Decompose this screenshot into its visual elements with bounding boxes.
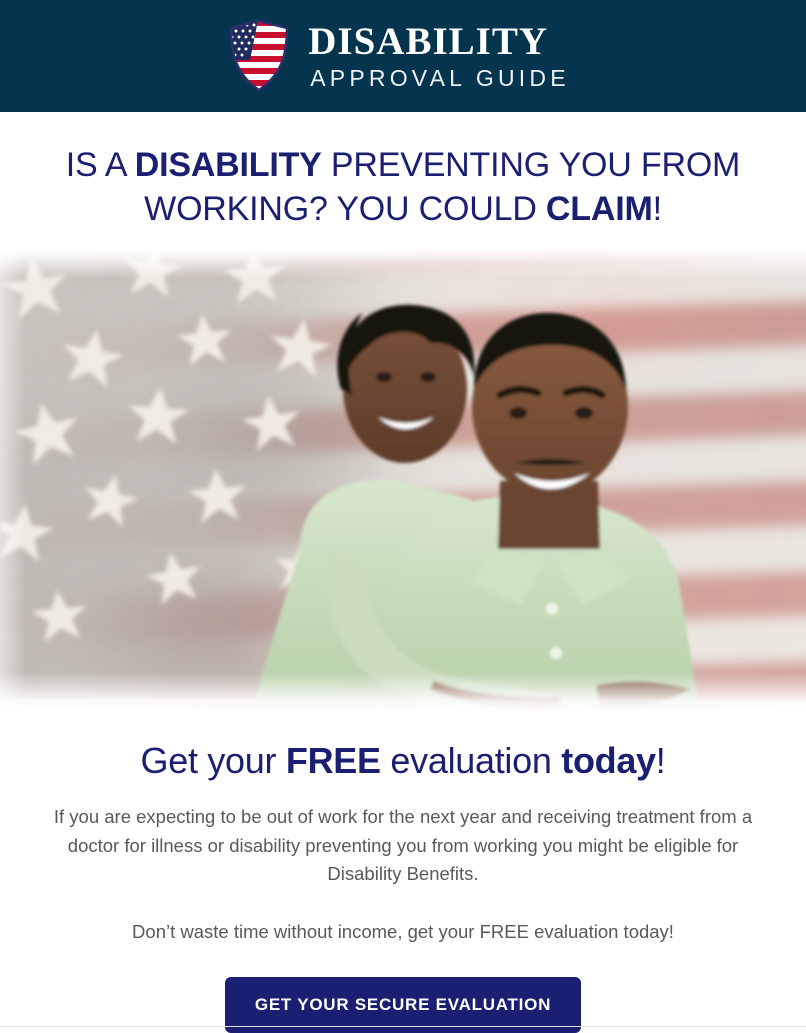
cta-container: GET YOUR SECURE EVALUATION <box>28 977 778 1033</box>
hero-fade-left <box>0 249 26 714</box>
brand-text: DISABILITY APPROVAL GUIDE <box>308 22 569 91</box>
bottom-divider <box>0 1026 806 1027</box>
sub-headline: Get your FREE evaluation today! <box>28 740 778 781</box>
brand-subtitle: APPROVAL GUIDE <box>308 67 569 90</box>
site-header: DISABILITY APPROVAL GUIDE <box>0 0 806 112</box>
hero-fade-top <box>0 249 806 279</box>
headline-emphasis-claim: CLAIM <box>546 190 653 228</box>
page-headline: IS A DISABILITY PREVENTING YOU FROM WORK… <box>0 112 806 231</box>
subheadline-part-1: Get your <box>141 740 286 781</box>
lead-paragraph: If you are expecting to be out of work f… <box>45 803 761 887</box>
hero-image <box>0 249 806 714</box>
subheadline-part-3: ! <box>656 740 666 781</box>
get-secure-evaluation-button[interactable]: GET YOUR SECURE EVALUATION <box>225 977 581 1033</box>
us-flag-shield-icon <box>228 20 290 92</box>
subheadline-emphasis-today: today <box>561 740 656 781</box>
headline-part-1: IS A <box>66 146 135 184</box>
main-content: Get your FREE evaluation today! If you a… <box>0 740 806 1032</box>
brand-lockup[interactable]: DISABILITY APPROVAL GUIDE <box>228 20 569 92</box>
headline-emphasis-disability: DISABILITY <box>135 146 322 184</box>
brand-title: DISABILITY <box>308 22 569 62</box>
headline-part-3: ! <box>653 190 662 228</box>
couple-photo <box>0 249 806 714</box>
subheadline-part-2: evaluation <box>381 740 562 781</box>
hero-fade-bottom <box>0 672 806 714</box>
subheadline-emphasis-free: FREE <box>286 740 381 781</box>
kicker-paragraph: Don’t waste time without income, get you… <box>45 918 761 946</box>
